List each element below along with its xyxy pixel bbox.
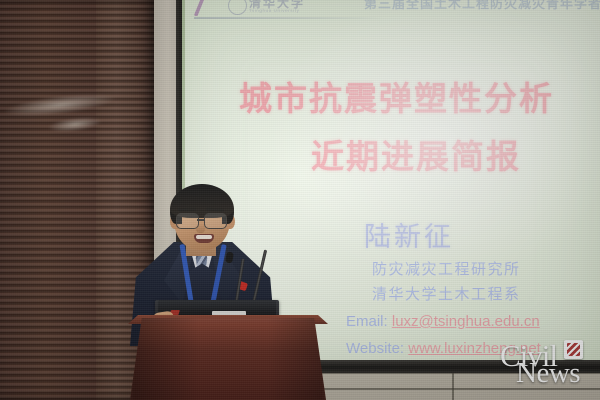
banner-conference-title: 第三届全国土木工程防灾减灾青年学者学术会议 — [364, 0, 600, 12]
conference-photo: 清华大学 Tsinghua University 第三届全国土木工程防灾减灾青年… — [0, 0, 600, 400]
wall-seam — [452, 372, 454, 400]
slide-banner: 清华大学 Tsinghua University 第三届全国土木工程防灾减灾青年… — [186, 0, 596, 20]
website-label: Website: — [346, 340, 404, 357]
slide-email-line: Email: luxz@tsinghua.edu.cn — [346, 313, 540, 330]
email-link[interactable]: luxz@tsinghua.edu.cn — [392, 313, 540, 330]
podium-shading — [130, 318, 326, 400]
nose — [196, 224, 205, 233]
slide-affiliation-department: 清华大学土木工程系 — [372, 283, 521, 304]
glasses-bridge — [197, 219, 204, 221]
banner-swoosh-icon — [194, 0, 233, 16]
slide-website-line: Website: www.luxinzheng.net — [346, 340, 541, 357]
banner-divider — [194, 17, 384, 19]
slide-author-name: 陆新征 — [364, 215, 454, 254]
slide-affiliation-institute: 防灾减灾工程研究所 — [372, 258, 521, 279]
banner-university-name-en: Tsinghua University — [249, 8, 299, 13]
website-link[interactable]: www.luxinzheng.net — [408, 340, 541, 357]
mouth — [194, 234, 214, 243]
tsinghua-logo-icon — [228, 0, 247, 15]
email-label: Email: — [346, 313, 388, 330]
glasses-lens-right — [204, 213, 227, 229]
slide-title-line-1: 城市抗震弹塑性分析 — [239, 72, 554, 120]
slide-title-line-2: 近期进展简报 — [311, 130, 521, 178]
